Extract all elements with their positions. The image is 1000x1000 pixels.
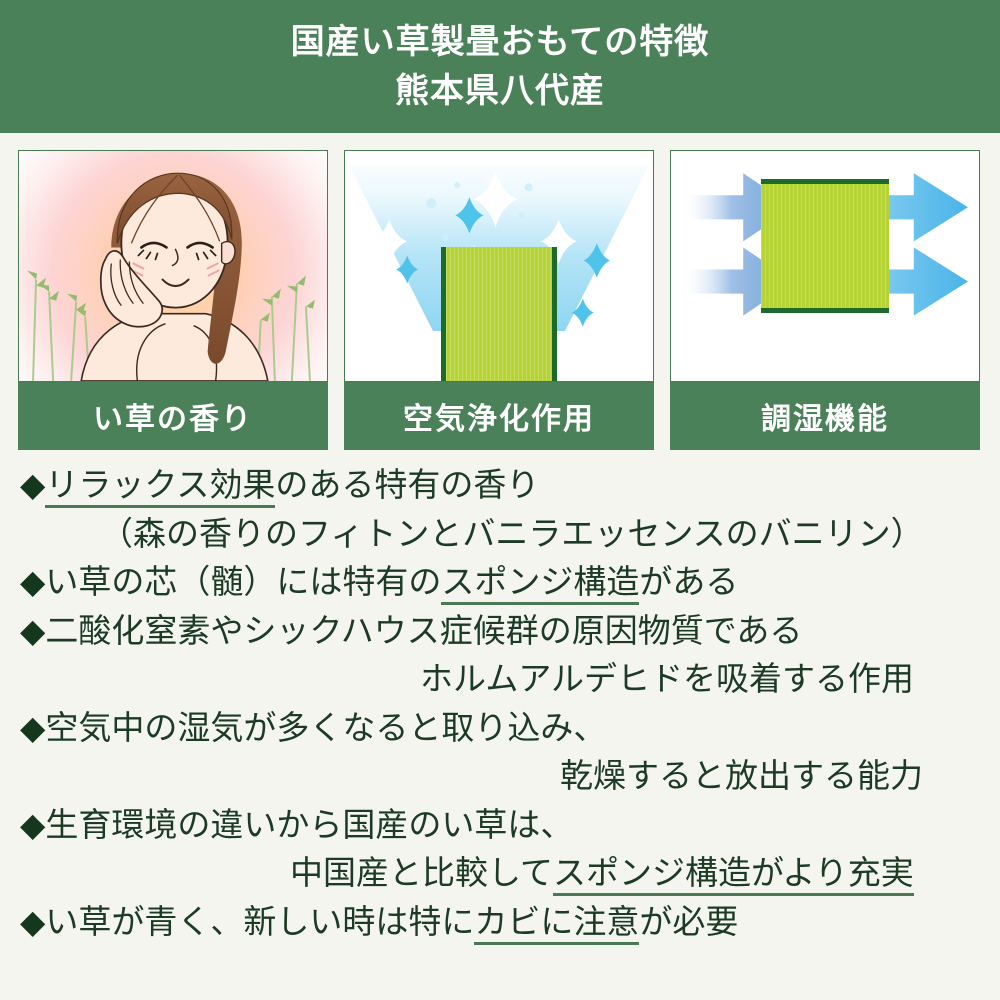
bullet-text: 生育環境の違いから国産のい草は、 [45, 808, 573, 844]
bullet-text: い草が青く、新しい時は特に [45, 905, 474, 941]
highlighted-keyword: カビに注意 [474, 905, 639, 945]
bullet-line: ◆い草が青く、新しい時は特にカビに注意が必要 [0, 899, 1000, 948]
infographic-page: 国産い草製畳おもての特徴 熊本県八代産 [0, 0, 1000, 1000]
diamond-bullet-icon: ◆ [20, 711, 45, 747]
diamond-bullet-icon: ◆ [20, 468, 45, 504]
scent-figure [18, 150, 328, 382]
highlighted-keyword: スポンジ構造 [441, 565, 639, 605]
feature-card-scent-label: い草の香り [18, 382, 328, 450]
bullet-text: い草の芯（髄）には特有の [45, 565, 441, 601]
tatami-block [761, 179, 889, 313]
feature-card-humidity[interactable]: 調湿機能 [670, 150, 980, 450]
card-label-text: い草の香り [93, 394, 253, 438]
bullet-text: （森の香りのフィトンとバニラエッセンスのバニリン） [100, 517, 924, 553]
bullet-text: 中国産と比較して [290, 856, 553, 892]
diamond-bullet-icon: ◆ [20, 614, 45, 650]
bullet-line: ホルムアルデヒドを吸着する作用 [0, 656, 1000, 705]
bullet-text: のある特有の香り [275, 468, 539, 504]
bullet-line: 乾燥すると放出する能力 [0, 753, 1000, 802]
bullet-line: 中国産と比較してスポンジ構造がより充実 [0, 850, 1000, 899]
air-purification-figure [344, 150, 654, 382]
feature-card-humidity-label: 調湿機能 [670, 382, 980, 450]
page-title-line1: 国産い草製畳おもての特徴 [291, 18, 710, 66]
feature-card-scent[interactable]: い草の香り [18, 150, 328, 450]
page-title-line2: 熊本県八代産 [395, 67, 605, 115]
woman-relaxing-icon [19, 151, 327, 381]
highlighted-keyword: スポンジ構造がより充実 [553, 856, 914, 896]
bullet-text: 空気中の湿気が多くなると取り込み、 [45, 711, 606, 747]
page-header: 国産い草製畳おもての特徴 熊本県八代産 [0, 0, 1000, 133]
bullet-text: 二酸化窒素やシックハウス症候群の原因物質である [45, 614, 802, 650]
diamond-bullet-icon: ◆ [20, 565, 45, 601]
humidity-figure [670, 150, 980, 382]
feature-card-row: い草の香り [18, 150, 982, 450]
bullet-text: がある [639, 565, 738, 601]
bullet-text: 乾燥すると放出する能力 [560, 759, 923, 795]
feature-card-air-purification-label: 空気浄化作用 [344, 382, 654, 450]
bullet-line: ◆い草の芯（髄）には特有のスポンジ構造がある [0, 559, 1000, 608]
diamond-bullet-icon: ◆ [20, 808, 45, 844]
bullet-text: ホルムアルデヒドを吸着する作用 [420, 662, 914, 698]
diamond-bullet-icon: ◆ [20, 905, 45, 941]
bullet-line: ◆リラックス効果のある特有の香り [0, 462, 1000, 511]
tatami-block [441, 247, 557, 381]
feature-card-air-purification[interactable]: 空気浄化作用 [344, 150, 654, 450]
highlighted-keyword: リラックス効果 [45, 468, 275, 508]
feature-bullet-list: ◆リラックス効果のある特有の香り（森の香りのフィトンとバニラエッセンスのバニリン… [0, 462, 1000, 947]
bullet-line: （森の香りのフィトンとバニラエッセンスのバニリン） [0, 511, 1000, 560]
bullet-line: ◆空気中の湿気が多くなると取り込み、 [0, 705, 1000, 754]
card-label-text: 空気浄化作用 [403, 394, 595, 438]
bullet-line: ◆二酸化窒素やシックハウス症候群の原因物質である [0, 608, 1000, 657]
card-label-text: 調湿機能 [761, 394, 889, 438]
bullet-line: ◆生育環境の違いから国産のい草は、 [0, 802, 1000, 851]
bullet-text: が必要 [639, 905, 738, 941]
